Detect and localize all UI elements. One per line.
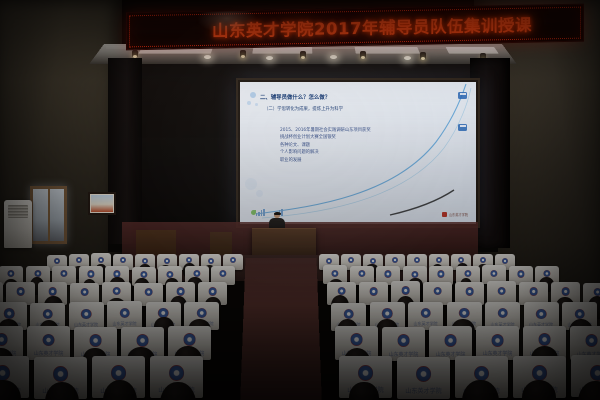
school-crest-icon (369, 287, 378, 296)
slide-bubble (247, 101, 251, 105)
slide-body-line: 2015、2016年暑期社会实践调研山东项目获奖 (280, 127, 371, 134)
school-crest-icon (517, 270, 524, 277)
slide-subheading: （二）学思转化为成果，提炼上升为科学 (264, 106, 343, 112)
school-crest-icon (401, 286, 410, 295)
school-crest-icon (370, 258, 376, 264)
school-crest-icon (0, 365, 10, 381)
school-crest-icon (585, 334, 598, 347)
school-crest-icon (119, 308, 130, 319)
school-crest-icon (196, 308, 207, 319)
school-crest-icon (343, 309, 354, 320)
slide-footer-logo: 山东英才学院 (442, 212, 468, 217)
school-crest-icon (331, 270, 338, 277)
school-crest-icon (208, 287, 217, 296)
school-crest-icon (436, 257, 442, 263)
ac-vent-icon (8, 205, 28, 218)
school-crest-icon (4, 308, 15, 319)
school-crest-icon (536, 309, 547, 320)
slide-logo-text: 山东英才学院 (449, 212, 468, 217)
slide-bubble (255, 103, 258, 106)
spotlight-icon (300, 51, 306, 59)
slide-heading: 二、辅导员做什么？怎么做？ (260, 93, 330, 101)
school-crest-icon (392, 257, 398, 263)
slide-save-icon (458, 92, 467, 99)
slide-body-line: 个人影响问题的解决 (280, 149, 371, 156)
school-crest-icon (497, 308, 508, 319)
school-crest-icon (350, 333, 363, 346)
school-crest-icon (16, 287, 25, 296)
school-crest-icon (87, 270, 94, 277)
school-crest-icon (54, 258, 60, 264)
spotlight-icon (132, 50, 138, 58)
school-crest-icon (80, 288, 89, 297)
picture-artwork (91, 195, 113, 212)
school-crest-icon (458, 257, 464, 263)
school-crest-icon (561, 287, 570, 296)
auditorium-seat: 山东英才学院 (408, 302, 443, 330)
projection-screen-frame: 二、辅导员做什么？怎么做？ （二）学思转化为成果，提炼上升为科学 2015、20… (236, 78, 480, 228)
seat-cover-text: 山东英才学院 (405, 386, 441, 395)
stage-curtain-left (108, 58, 142, 244)
school-crest-icon (502, 258, 508, 264)
school-crest-icon (0, 333, 8, 346)
school-crest-icon (7, 270, 14, 277)
ceiling-light-glow (404, 56, 411, 60)
school-crest-icon (111, 365, 127, 381)
spotlight-icon (360, 51, 366, 59)
school-crest-icon (164, 258, 170, 264)
school-crest-icon (593, 288, 600, 297)
air-conditioner-unit (4, 200, 32, 248)
school-crest-icon (219, 270, 226, 277)
ceiling-light-glow (266, 56, 273, 60)
school-crest-icon (497, 287, 506, 296)
projection-screen: 二、辅导员做什么？怎么做？ （二）学思转化为成果，提炼上升为科学 2015、20… (240, 82, 476, 224)
school-crest-icon (230, 257, 236, 263)
school-crest-icon (142, 258, 148, 264)
school-crest-icon (590, 365, 600, 381)
school-crest-icon (144, 288, 153, 297)
school-crest-icon (89, 334, 102, 347)
school-crest-icon (81, 309, 92, 320)
ceiling-light-glow (330, 55, 337, 59)
school-crest-icon (42, 309, 53, 320)
slide-body-line: 挑战杯创业计划大赛全国银奖 (280, 134, 371, 141)
school-crest-icon (112, 287, 121, 296)
school-crest-icon (459, 308, 470, 319)
slide-save-icon (458, 124, 467, 131)
school-crest-icon (326, 258, 332, 264)
school-crest-icon (42, 334, 55, 347)
school-crest-icon (382, 308, 393, 319)
slide-body-line: 各种论文、课题 (280, 142, 371, 149)
auditorium-seat: 山东英才学院 (397, 357, 450, 399)
school-crest-icon (120, 257, 126, 263)
slide-body-list: 2015、2016年暑期社会实践调研山东项目获奖 挑战杯创业计划大赛全国银奖 各… (280, 127, 371, 164)
school-crest-icon (411, 271, 418, 278)
school-crest-icon (490, 270, 497, 277)
window (30, 186, 67, 244)
school-crest-icon (532, 365, 548, 381)
school-crest-icon (414, 257, 420, 263)
school-crest-icon (183, 333, 196, 346)
school-crest-icon (176, 287, 185, 296)
school-crest-icon (480, 257, 486, 263)
school-crest-icon (208, 258, 214, 264)
slide-body-line: 职业的发展 (280, 157, 371, 164)
wall-picture (88, 192, 116, 215)
school-crest-icon (416, 366, 432, 382)
school-crest-icon (76, 257, 82, 263)
school-crest-icon (444, 334, 457, 347)
spotlight-icon (420, 52, 426, 60)
slide-bubble (256, 190, 263, 197)
school-crest-icon (464, 270, 471, 277)
school-crest-icon (384, 270, 391, 277)
school-crest-icon (358, 365, 374, 381)
school-crest-icon (34, 270, 41, 277)
slide-bubble (250, 92, 256, 98)
auditorium-seat: 山东英才学院 (27, 326, 70, 360)
school-crest-icon (358, 270, 365, 277)
banner-title: 山东英才学院2017年辅导员队伍集训授课 (127, 5, 583, 50)
school-crest-icon (140, 271, 147, 278)
school-crest-icon (529, 287, 538, 296)
auditorium-seat: 山东英才学院 (429, 326, 472, 360)
school-crest-icon (465, 287, 474, 296)
school-crest-icon (437, 270, 444, 277)
ceiling-light-glow (204, 55, 211, 59)
auditorium-seat: 山东英才学院 (107, 301, 142, 329)
school-crest-icon (48, 287, 57, 296)
school-crest-icon (574, 309, 585, 320)
school-crest-icon (433, 287, 442, 296)
school-crest-icon (397, 334, 410, 347)
school-crest-icon (136, 334, 149, 347)
school-crest-icon (348, 257, 354, 263)
school-crest-icon (60, 270, 67, 277)
spotlight-icon (240, 50, 246, 58)
school-crest-icon (53, 366, 69, 382)
school-crest-icon (538, 333, 551, 346)
slide-bubble (245, 178, 257, 190)
school-crest-icon (169, 365, 185, 381)
school-crest-icon (442, 212, 447, 217)
auditorium-photo: 山东英才学院2017年辅导员队伍集训授课 二、辅导员做什么？怎么做？ （二）学思… (0, 0, 600, 400)
school-crest-icon (420, 308, 431, 319)
audience-seating: 山东英才学院山东英才学院山东英才学院山东英才学院山东英才学院山东英才学院山东英才… (0, 250, 600, 400)
slide-bars-icon (256, 208, 265, 216)
school-crest-icon (166, 271, 173, 278)
auditorium-seat: 山东英才学院 (476, 326, 519, 360)
school-crest-icon (491, 334, 504, 347)
school-crest-icon (98, 257, 104, 263)
